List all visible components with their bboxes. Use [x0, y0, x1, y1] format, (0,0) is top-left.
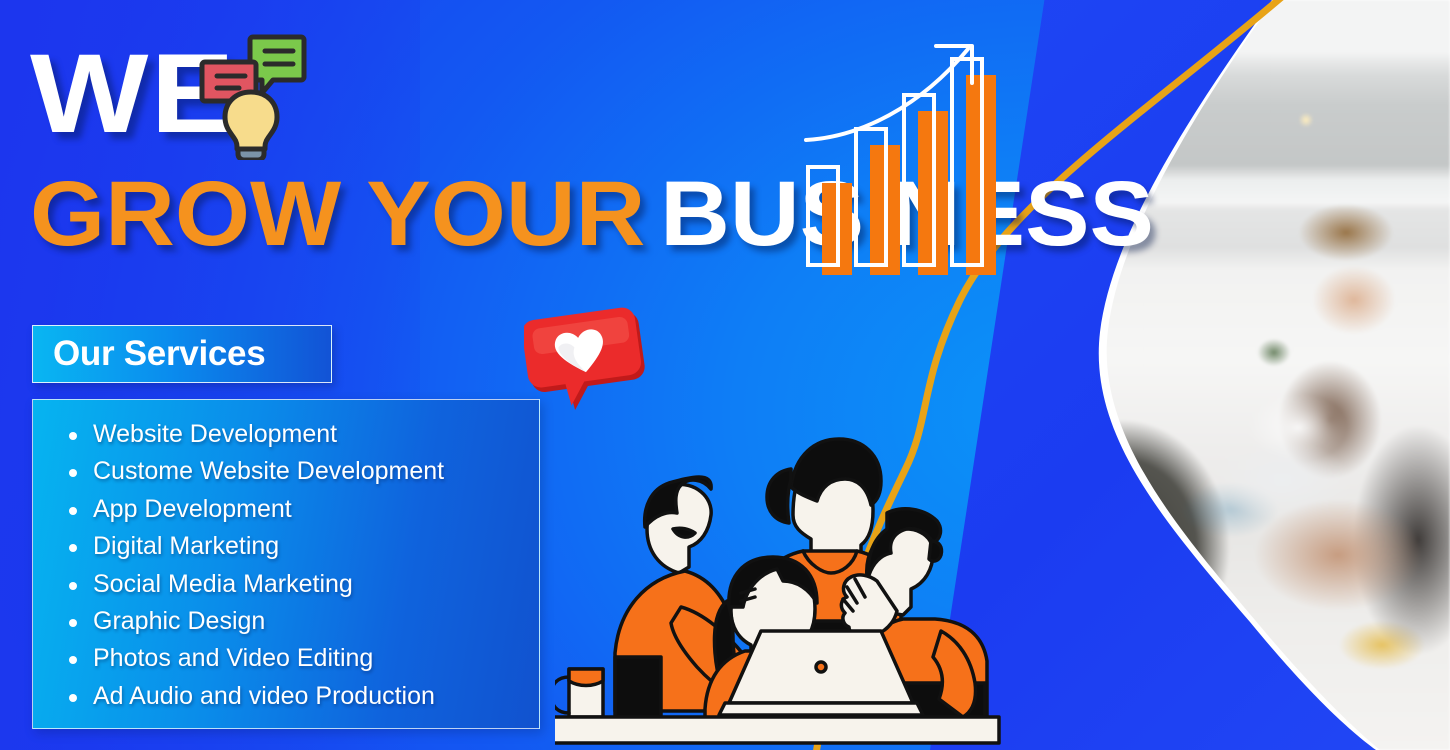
growth-bar-chart-icon: [800, 35, 1010, 275]
desk-surface: [555, 717, 999, 743]
laptop-logo: [816, 662, 826, 672]
mug-handle: [555, 677, 569, 713]
heart-notification-icon: [524, 306, 649, 416]
service-item: Website Development: [61, 416, 539, 453]
services-title-box: Our Services: [32, 325, 332, 383]
mug-band: [569, 669, 603, 686]
service-item: Ad Audio and video Production: [61, 678, 539, 715]
service-item: App Development: [61, 491, 539, 528]
headline-grow-your: GROW YOUR: [30, 163, 645, 265]
person-left-pants: [615, 657, 661, 717]
services-list: Website DevelopmentCustome Website Devel…: [61, 416, 539, 715]
person-right-hair-bun: [929, 541, 942, 561]
service-item: Social Media Marketing: [61, 566, 539, 603]
laptop-base: [719, 703, 923, 715]
service-item: Photos and Video Editing: [61, 640, 539, 677]
team-around-laptop-illustration: [555, 425, 1025, 750]
person-center-ponytail: [767, 469, 791, 523]
services-list-box: Website DevelopmentCustome Website Devel…: [32, 399, 540, 729]
lightbulb-speech-bubbles-icon: [195, 30, 310, 160]
service-item: Graphic Design: [61, 603, 539, 640]
marketing-banner: WE GROW YOURBUSINESS: [0, 0, 1450, 750]
service-item: Digital Marketing: [61, 528, 539, 565]
service-item: Custome Website Development: [61, 453, 539, 490]
services-title-label: Our Services: [33, 334, 265, 374]
